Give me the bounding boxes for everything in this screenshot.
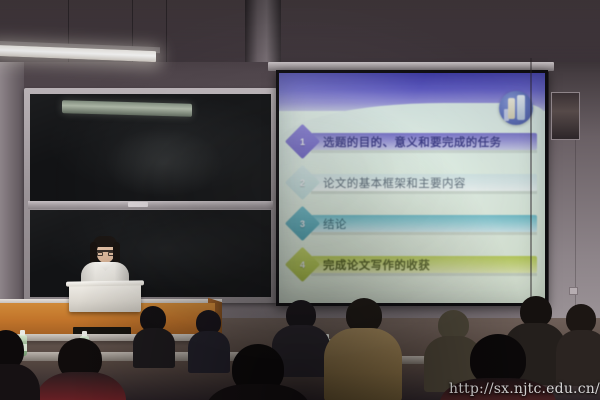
slide-bullet-text: 论文的基本框架和主要内容: [323, 173, 539, 192]
slide-agenda-list: 1 选题的目的、意义和要完成的任务 2 论文的基本框架和主要内容 3 结论 4 …: [279, 125, 545, 289]
ceiling-seam: [166, 0, 167, 62]
blackboard-rail-clip: [128, 202, 148, 207]
blackboard-chalk-rail: [28, 201, 273, 209]
slide-bullet-text: 选题的目的、意义和要完成的任务: [323, 132, 539, 151]
slide-bullet-text: 结论: [323, 214, 539, 233]
blackboard: [24, 88, 277, 303]
wall-seam: [530, 58, 532, 320]
audience-torso: [556, 330, 600, 386]
wall-mounted-box: [551, 92, 580, 140]
wall-outlet: [569, 287, 578, 295]
slide-bullet-number: 2: [290, 170, 315, 195]
slide-bullet-2: 2 论文的基本框架和主要内容: [279, 166, 545, 199]
lectern: [69, 284, 141, 312]
screen-edge-cord: [548, 72, 549, 304]
blackboard-glare: [104, 128, 224, 198]
slide-bullet-number: 4: [290, 252, 315, 277]
site-watermark: http://sx.njtc.edu.cn/: [449, 381, 600, 397]
slide-bullet-text: 完成论文写作的收获: [323, 255, 539, 274]
slide-bullet-number: 3: [290, 211, 315, 236]
audience-torso: [324, 328, 402, 400]
presenter-glasses: [97, 250, 114, 257]
slide-bullet-4: 4 完成论文写作的收获: [279, 248, 545, 281]
projector-screen: 1 选题的目的、意义和要完成的任务 2 论文的基本框架和主要内容 3 结论 4 …: [279, 73, 545, 303]
left-wall-strip: [0, 60, 24, 310]
logo-shape-right: [517, 95, 525, 120]
slide-bullet-3: 3 结论: [279, 207, 545, 240]
audience-torso: [133, 328, 175, 368]
audience-torso: [188, 331, 230, 373]
ceiling-beam: [245, 0, 281, 62]
slide-bullet-number: 1: [290, 129, 315, 154]
slide-bullet-1: 1 选题的目的、意义和要完成的任务: [279, 125, 545, 158]
classroom-presentation-photo: 1 选题的目的、意义和要完成的任务 2 论文的基本框架和主要内容 3 结论 4 …: [0, 0, 600, 400]
presentation-logo-badge: [499, 91, 533, 125]
logo-shape-center: [508, 98, 515, 119]
